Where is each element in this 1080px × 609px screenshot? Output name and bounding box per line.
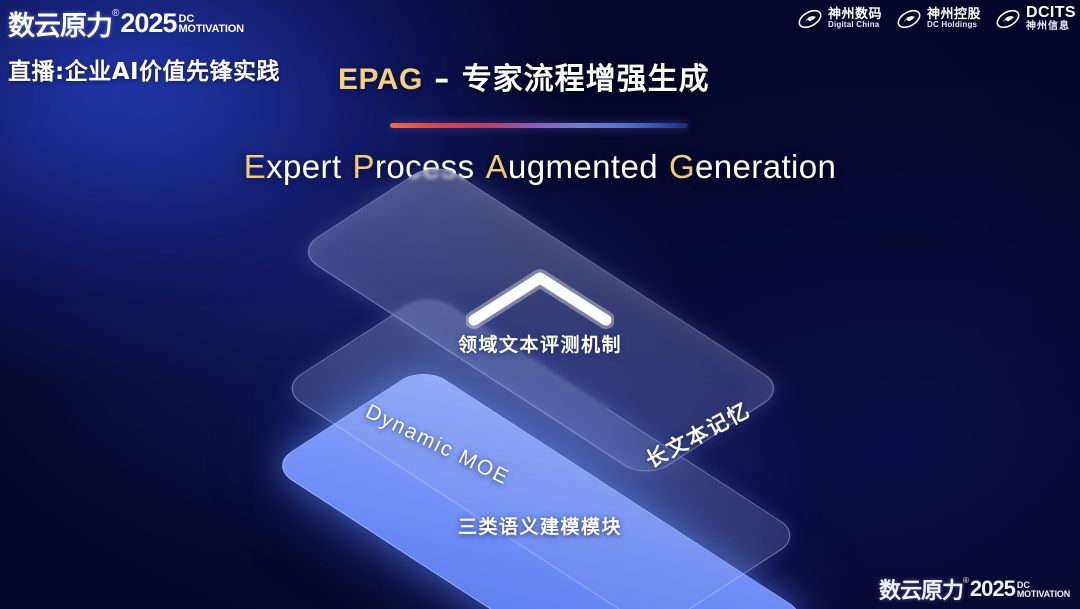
brand-dc-motivation: DC MOTIVATION: [178, 14, 243, 35]
partner-name-en: DC Holdings: [927, 21, 981, 29]
swirl-icon: [797, 6, 823, 32]
partner-name-cn: 神州数码: [828, 8, 882, 22]
partner-logo-text: DCITS 神州信息: [1026, 5, 1076, 32]
subtitle-cap: G: [669, 148, 695, 185]
page-title: EPAG – 专家流程增强生成: [338, 54, 710, 98]
subtitle-rest: xpert: [266, 148, 341, 185]
watermark-registered-mark: ®: [963, 576, 969, 585]
partner-logo-text: 神州数码 Digital China: [828, 8, 882, 30]
swirl-icon: [995, 6, 1021, 32]
watermark-name-cn: 数云原力: [879, 573, 963, 605]
title-chinese: 专家流程增强生成: [462, 62, 710, 97]
subtitle-rest: ugmented: [508, 148, 658, 185]
subtitle-word-generation: Generation: [669, 148, 836, 185]
partner-name-cn: 神州控股: [927, 8, 981, 22]
slide-canvas: 数云原力 ® 2025 DC MOTIVATION 直播:企业AI价值先锋实践 …: [0, 0, 1080, 609]
subtitle-expansion: ExpertProcessAugmentedGeneration: [0, 148, 1080, 186]
brand-year: 2025: [120, 8, 176, 39]
partner-name-en: 神州信息: [1026, 22, 1076, 33]
brand-registered-mark: ®: [112, 8, 119, 19]
stack-layer-bottom-label: 三类语义建模模块: [0, 512, 1080, 539]
chevron-up-icon: [466, 268, 614, 330]
partner-logo-dc-holdings: 神州控股 DC Holdings: [896, 6, 981, 32]
brand-logo: 数云原力 ® 2025 DC MOTIVATION: [8, 4, 244, 43]
stack-layer-top-label: 领域文本评测机制: [0, 330, 1080, 357]
partner-logo-dcits: DCITS 神州信息: [995, 5, 1076, 32]
gradient-divider: [390, 123, 688, 128]
watermark-dc-motivation: DC MOTIVATION: [1017, 581, 1070, 598]
subtitle-word-expert: Expert: [244, 148, 342, 185]
partner-logo-text: 神州控股 DC Holdings: [927, 8, 981, 30]
swirl-icon: [896, 6, 922, 32]
title-acronym: EPAG: [338, 63, 423, 96]
watermark-year: 2025: [970, 576, 1015, 602]
partner-name-cn: DCITS: [1026, 5, 1076, 22]
partner-logo-strip: 神州数码 Digital China 神州控股 DC Holdings: [797, 5, 1076, 32]
partner-logo-digital-china: 神州数码 Digital China: [797, 6, 882, 32]
title-dash: –: [423, 62, 462, 97]
watermark-logo: 数云原力 ® 2025 DC MOTIVATION: [879, 573, 1070, 605]
watermark-dc-line2: MOTIVATION: [1017, 590, 1070, 599]
partner-name-en: Digital China: [828, 21, 882, 29]
subtitle-cap: A: [486, 148, 508, 185]
subtitle-cap: P: [353, 148, 375, 185]
subtitle-rest: eneration: [695, 148, 836, 185]
brand-name-cn: 数云原力: [8, 4, 112, 43]
subtitle-cap: E: [244, 148, 266, 185]
subtitle-word-augmented: Augmented: [486, 148, 658, 185]
brand-dc-line2: MOTIVATION: [178, 24, 243, 34]
live-session-title: 直播:企业AI价值先锋实践: [8, 52, 280, 86]
